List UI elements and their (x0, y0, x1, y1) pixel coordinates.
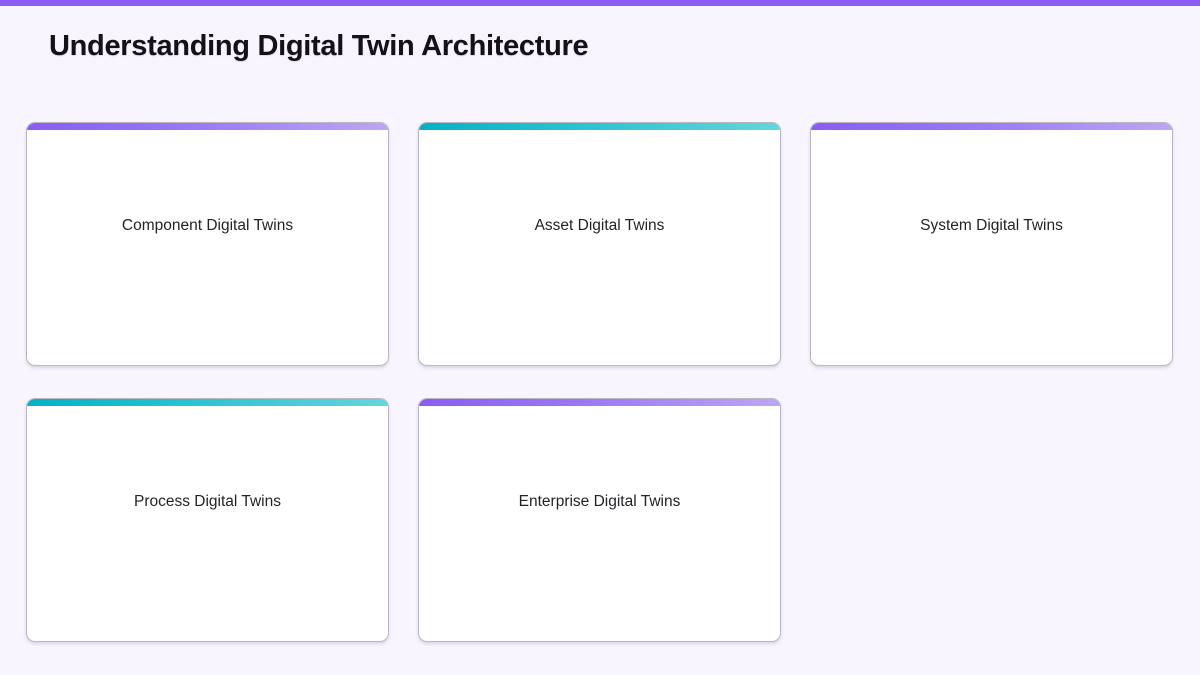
card-system-digital-twins[interactable]: System Digital Twins (810, 122, 1173, 366)
page-title: Understanding Digital Twin Architecture (49, 30, 588, 63)
card-enterprise-digital-twins[interactable]: Enterprise Digital Twins (418, 398, 781, 642)
card-process-digital-twins[interactable]: Process Digital Twins (26, 398, 389, 642)
card-title: Asset Digital Twins (419, 217, 780, 235)
card-accent-bar (811, 123, 1172, 130)
card-title: Enterprise Digital Twins (419, 493, 780, 511)
card-component-digital-twins[interactable]: Component Digital Twins (26, 122, 389, 366)
card-title: Process Digital Twins (27, 493, 388, 511)
card-title: Component Digital Twins (27, 217, 388, 235)
card-title: System Digital Twins (811, 217, 1172, 235)
card-accent-bar (419, 399, 780, 406)
card-accent-bar (419, 123, 780, 130)
digital-twin-card-grid: Component Digital Twins Asset Digital Tw… (26, 122, 1174, 642)
top-accent-bar (0, 0, 1200, 6)
card-accent-bar (27, 399, 388, 406)
card-asset-digital-twins[interactable]: Asset Digital Twins (418, 122, 781, 366)
card-accent-bar (27, 123, 388, 130)
